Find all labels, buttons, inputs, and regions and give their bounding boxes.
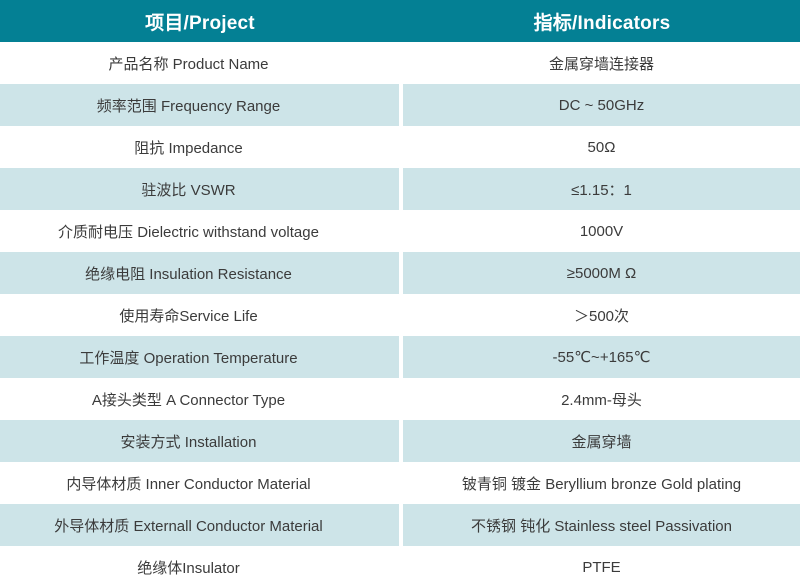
cell-value: PTFE bbox=[403, 546, 800, 588]
cell-item: 内导体材质 Inner Conductor Material bbox=[0, 462, 399, 504]
table-body: 产品名称 Product Name金属穿墙连接器频率范围 Frequency R… bbox=[0, 42, 800, 588]
cell-item: 使用寿命Service Life bbox=[0, 294, 399, 336]
cell-value: 50Ω bbox=[403, 126, 800, 168]
cell-value: 铍青铜 镀金 Beryllium bronze Gold plating bbox=[403, 462, 800, 504]
cell-value: 金属穿墙连接器 bbox=[403, 42, 800, 84]
table-row: 驻波比 VSWR≤1.15：1 bbox=[0, 168, 800, 210]
cell-item: 频率范围 Frequency Range bbox=[0, 84, 399, 126]
cell-item: A接头类型 A Connector Type bbox=[0, 378, 399, 420]
table-row: 内导体材质 Inner Conductor Material铍青铜 镀金 Ber… bbox=[0, 462, 800, 504]
cell-item: 外导体材质 Externall Conductor Material bbox=[0, 504, 399, 546]
cell-value: 不锈钢 钝化 Stainless steel Passivation bbox=[403, 504, 800, 546]
table-row: 频率范围 Frequency RangeDC ~ 50GHz bbox=[0, 84, 800, 126]
cell-item: 阻抗 Impedance bbox=[0, 126, 399, 168]
cell-item: 驻波比 VSWR bbox=[0, 168, 399, 210]
table-row: 阻抗 Impedance50Ω bbox=[0, 126, 800, 168]
cell-value: ≥5000M Ω bbox=[403, 252, 800, 294]
cell-value: ≤1.15：1 bbox=[403, 168, 800, 210]
table-row: 绝缘体InsulatorPTFE bbox=[0, 546, 800, 588]
cell-item: 绝缘电阻 Insulation Resistance bbox=[0, 252, 399, 294]
table-header-row: 项目/Project 指标/Indicators bbox=[0, 0, 800, 42]
cell-value: ＞500次 bbox=[403, 294, 800, 336]
cell-item: 绝缘体Insulator bbox=[0, 546, 399, 588]
specification-table: 项目/Project 指标/Indicators 产品名称 Product Na… bbox=[0, 0, 800, 588]
table-row: 产品名称 Product Name金属穿墙连接器 bbox=[0, 42, 800, 84]
table-row: 工作温度 Operation Temperature-55℃~+165℃ bbox=[0, 336, 800, 378]
cell-item: 产品名称 Product Name bbox=[0, 42, 399, 84]
table-row: 外导体材质 Externall Conductor Material不锈钢 钝化… bbox=[0, 504, 800, 546]
cell-value: DC ~ 50GHz bbox=[403, 84, 800, 126]
column-header-indicators: 指标/Indicators bbox=[400, 0, 800, 42]
cell-value: 金属穿墙 bbox=[403, 420, 800, 462]
cell-item: 介质耐电压 Dielectric withstand voltage bbox=[0, 210, 399, 252]
cell-value: 2.4mm-母头 bbox=[403, 378, 800, 420]
table-row: 介质耐电压 Dielectric withstand voltage1000V bbox=[0, 210, 800, 252]
table-row: 绝缘电阻 Insulation Resistance≥5000M Ω bbox=[0, 252, 800, 294]
cell-value: -55℃~+165℃ bbox=[403, 336, 800, 378]
table-row: A接头类型 A Connector Type2.4mm-母头 bbox=[0, 378, 800, 420]
table-row: 使用寿命Service Life＞500次 bbox=[0, 294, 800, 336]
cell-value: 1000V bbox=[403, 210, 800, 252]
cell-item: 安装方式 Installation bbox=[0, 420, 399, 462]
cell-item: 工作温度 Operation Temperature bbox=[0, 336, 399, 378]
table-row: 安装方式 Installation金属穿墙 bbox=[0, 420, 800, 462]
column-header-project: 项目/Project bbox=[0, 0, 400, 42]
